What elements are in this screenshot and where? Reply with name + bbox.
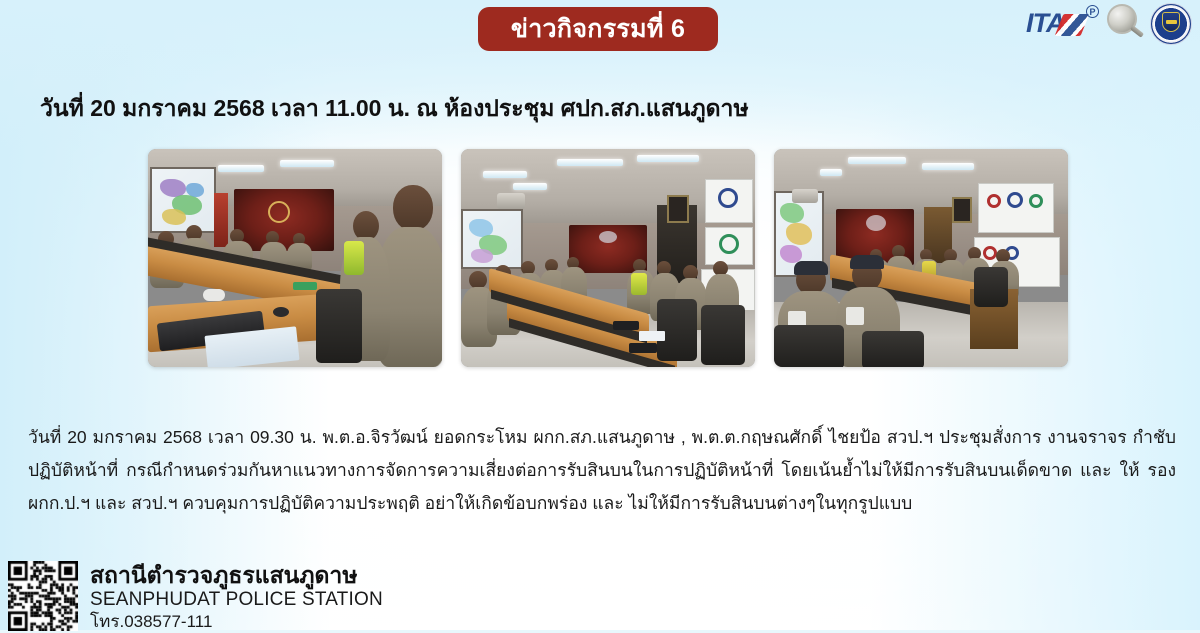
photo-meeting-room-2 [461,149,755,367]
magnifier-handle-icon [1130,25,1144,38]
desk-document [293,282,317,290]
paper-sheet [639,331,665,341]
wall-map [461,209,523,269]
photo-meeting-room-3 [774,149,1068,367]
wall-chart [705,179,753,223]
office-chair [316,289,362,363]
police-cap [850,255,884,269]
office-chair [862,331,924,367]
air-conditioner [497,193,525,209]
safety-vest [631,273,647,295]
shoulder-patch [846,307,864,325]
ita-logo: ITA P [1026,4,1100,44]
page-title-badge: ข่าวกิจกรรมที่ 6 [478,7,718,51]
footer-text-group: สถานีตำรวจภูธรแสนภูดาษ SEANPHUDAT POLICE… [90,561,383,633]
photo-meeting-room-1 [148,149,442,367]
office-chair [657,299,697,361]
ceiling-light [848,157,906,164]
ceiling-light [483,171,527,178]
ceiling-light [557,159,623,166]
footer: สถานีตำรวจภูธรแสนภูดาษ SEANPHUDAT POLICE… [8,561,383,633]
qr-code[interactable] [8,561,78,631]
desk-device [629,343,657,353]
office-chair [974,267,1008,307]
police-badge-logo [1150,3,1192,45]
event-subtitle: วันที่ 20 มกราคม 2568 เวลา 11.00 น. ณ ห้… [40,91,749,127]
ceiling-light [218,165,264,172]
body-paragraph: วันที่ 20 มกราคม 2568 เวลา 09.30 น. พ.ต.… [28,421,1176,520]
office-chair [774,325,844,367]
wall-map [150,167,216,233]
page-title: ข่าวกิจกรรมที่ 6 [511,17,685,42]
ita-logo-p-mark: P [1086,5,1099,18]
desk-device [613,321,639,330]
police-cap [794,261,828,275]
framed-portrait [952,197,972,223]
ceiling-light [637,155,699,162]
office-chair [701,305,745,365]
ceiling-light [280,160,334,167]
backdrop-emblem [268,201,290,223]
wall-chart [978,183,1054,233]
air-conditioner [792,189,818,203]
ceiling-light [513,183,547,190]
photo-gallery [148,149,1068,367]
ceiling-light [820,169,842,176]
wall-chart [705,227,753,265]
ceiling-light [922,163,974,170]
safety-vest [344,241,364,275]
organization-name-th: สถานีตำรวจภูธรแสนภูดาษ [90,563,383,588]
magnifier-seal-logo [1104,3,1146,45]
backdrop-emblem [866,215,886,231]
microphone-base [203,289,225,301]
police-badge-shield-icon [1162,12,1180,32]
framed-portrait [667,195,689,223]
computer-mouse [273,307,289,317]
person-head [393,185,433,231]
organization-name-en: SEANPHUDAT POLICE STATION [90,588,383,611]
logo-group: ITA P [1026,2,1192,46]
backdrop-emblem [599,231,617,243]
curtain [214,193,228,247]
